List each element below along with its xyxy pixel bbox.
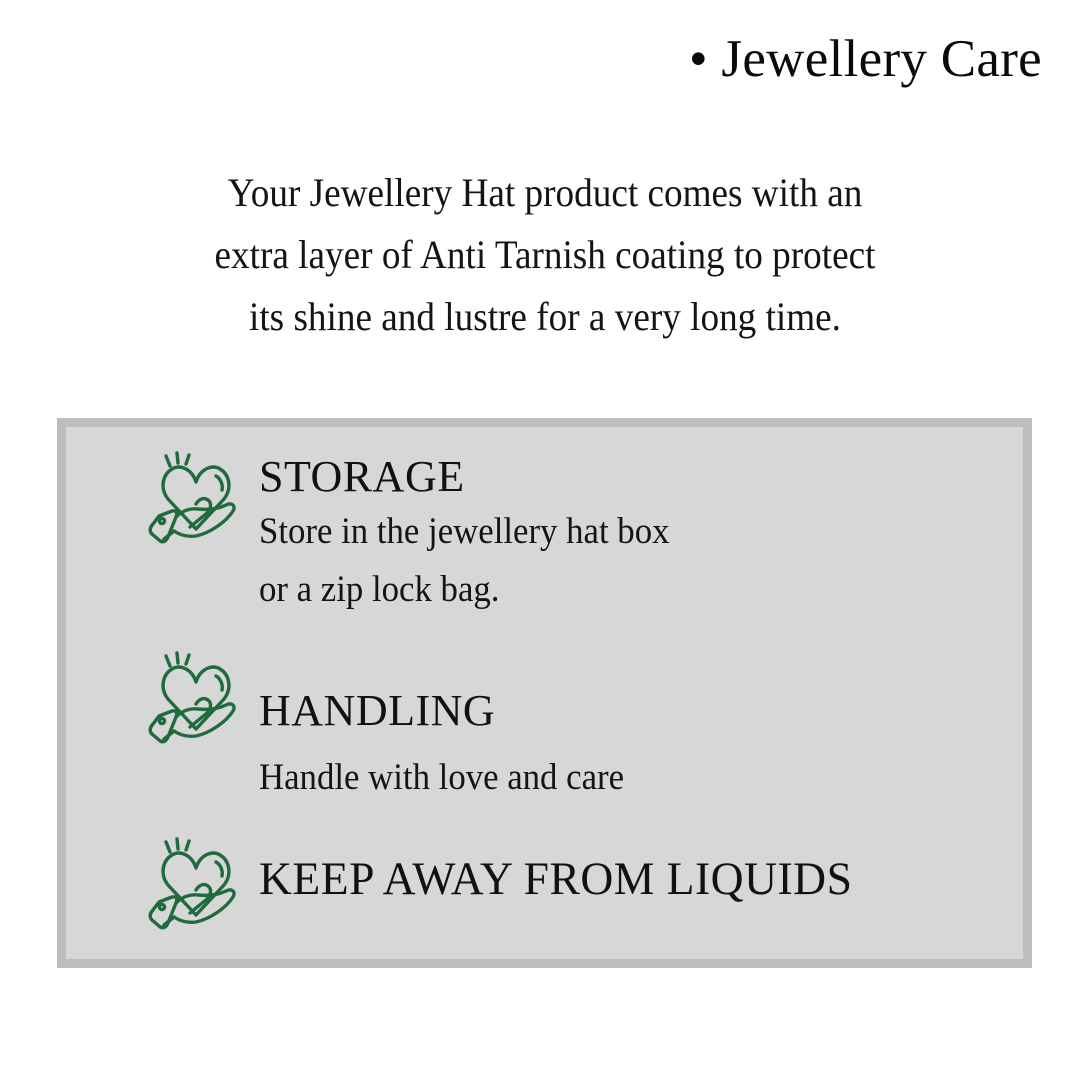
care-heading: STORAGE [259,451,696,503]
care-text-handling: HANDLING Handle with love and care [246,649,647,807]
intro-line-1: Your Jewellery Hat product comes with an [103,162,987,224]
heart-in-hand-icon [146,449,246,549]
heart-in-hand-icon [146,649,246,749]
care-desc-line: Handle with love and care [259,749,624,807]
care-instructions-panel: STORAGE Store in the jewellery hat box o… [57,418,1032,968]
care-desc-line: Store in the jewellery hat box [259,503,669,561]
intro-paragraph: Your Jewellery Hat product comes with an… [103,162,987,348]
care-item-handling: HANDLING Handle with love and care [146,649,647,807]
care-item-storage: STORAGE Store in the jewellery hat box o… [146,449,696,619]
heart-in-hand-icon [146,835,246,935]
care-text-storage: STORAGE Store in the jewellery hat box o… [246,449,696,619]
care-item-keep-away-from-liquids: KEEP AWAY FROM LIQUIDS [146,835,871,935]
care-list: STORAGE Store in the jewellery hat box o… [66,427,1023,959]
care-text-keep-away-from-liquids: KEEP AWAY FROM LIQUIDS [246,835,871,905]
care-desc-line: or a zip lock bag. [259,561,669,619]
intro-line-2: extra layer of Anti Tarnish coating to p… [103,224,987,286]
care-heading: HANDLING [259,685,647,737]
page-title: • Jewellery Care [0,30,1042,88]
care-heading: KEEP AWAY FROM LIQUIDS [259,853,852,905]
care-description: Store in the jewellery hat box or a zip … [259,503,669,619]
intro-line-3: its shine and lustre for a very long tim… [103,286,987,348]
care-description: Handle with love and care [259,737,624,807]
